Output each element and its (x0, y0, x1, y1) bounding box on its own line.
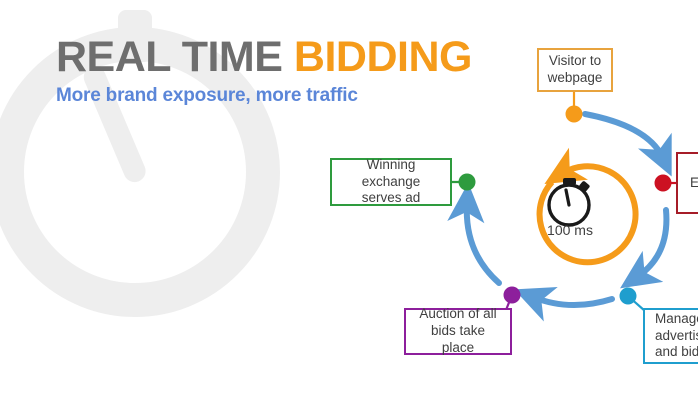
node-label-winning-line2: serves ad (362, 190, 421, 205)
node-box-winning[interactable]: Winning exchange serves ad (330, 158, 452, 206)
node-dot-winning[interactable] (459, 174, 476, 191)
arrow-exchange-to-manages (637, 210, 666, 277)
node-label-manages-line2: advertise (655, 328, 698, 343)
node-label-visitor-line2: webpage (548, 70, 603, 85)
center-duration-label: 100 ms (525, 222, 615, 238)
slide-canvas: REAL TIME BIDDING More brand exposure, m… (0, 0, 698, 400)
node-box-manages[interactable]: Manage advertise and bids (643, 308, 698, 364)
stopwatch-icon (549, 178, 590, 225)
node-box-auction[interactable]: Auction of all bids take place (404, 308, 512, 355)
node-label-exchange-line1: E (690, 175, 698, 190)
node-box-visitor[interactable]: Visitor to webpage (537, 48, 613, 92)
node-label-manages-line1: Manage (655, 311, 698, 326)
arrow-visitor-to-exchange (585, 114, 663, 158)
node-box-exchange[interactable]: E (676, 152, 698, 214)
node-label-winning-line1: Winning exchange (362, 157, 421, 189)
node-dot-auction[interactable] (504, 287, 521, 304)
node-dot-manages[interactable] (620, 288, 637, 305)
node-label-manages-line3: and bids (655, 344, 698, 359)
node-label-visitor-line1: Visitor to (549, 53, 601, 68)
arrow-auction-to-winning (467, 203, 499, 283)
node-label-auction-line2: bids take place (431, 323, 485, 355)
node-dot-visitor[interactable] (566, 106, 583, 123)
node-dot-exchange[interactable] (655, 175, 672, 192)
arrow-manages-to-auction (533, 297, 612, 305)
node-label-auction-line1: Auction of all (419, 306, 496, 321)
